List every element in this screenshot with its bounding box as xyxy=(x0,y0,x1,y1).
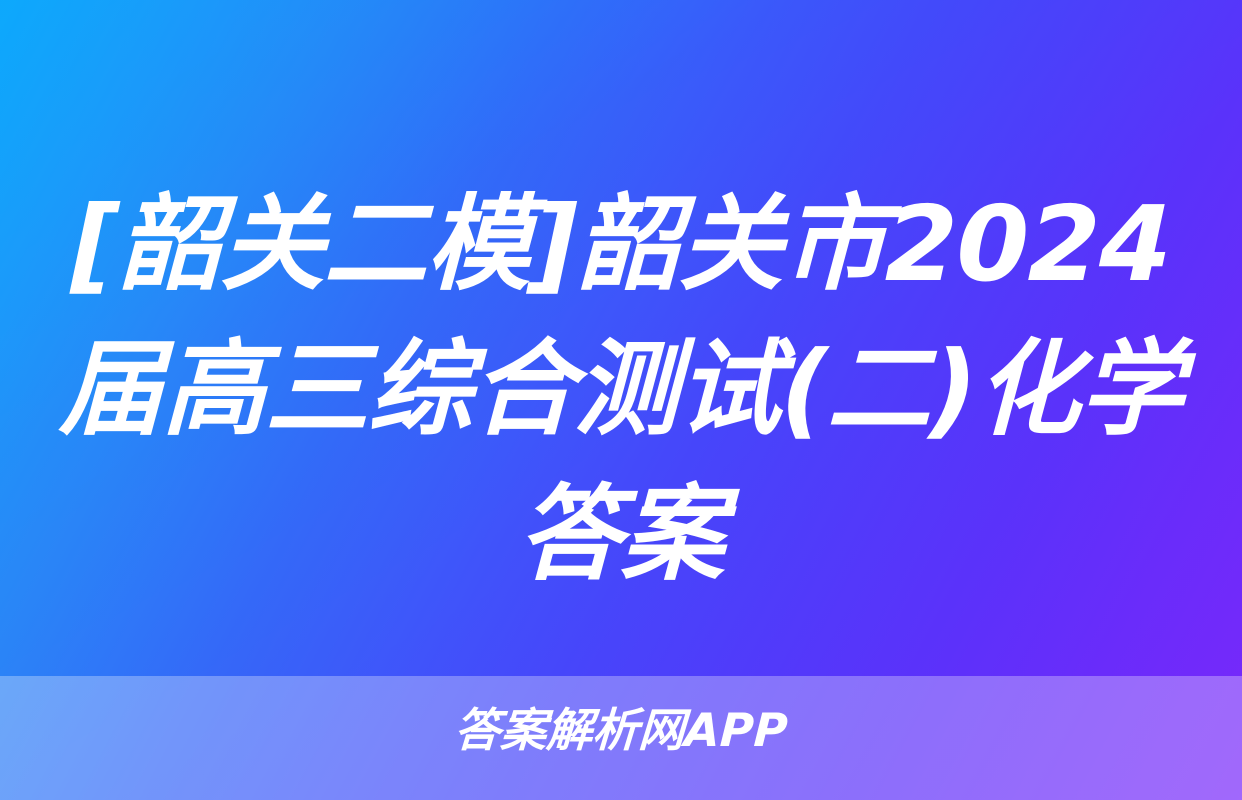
title-line-1: [韶关二模]韶关市2024 xyxy=(51,172,1192,317)
watermark-brand-label: 答案解析网APP xyxy=(0,703,1242,757)
cover-card-page: [韶关二模]韶关市2024 届高三综合测试(二)化学 答案 答案解析网APP xyxy=(0,0,1242,800)
title-line-3: 答案 xyxy=(51,462,1192,607)
title-line-2: 届高三综合测试(二)化学 xyxy=(51,317,1192,462)
title-block: [韶关二模]韶关市2024 届高三综合测试(二)化学 答案 xyxy=(0,172,1242,607)
